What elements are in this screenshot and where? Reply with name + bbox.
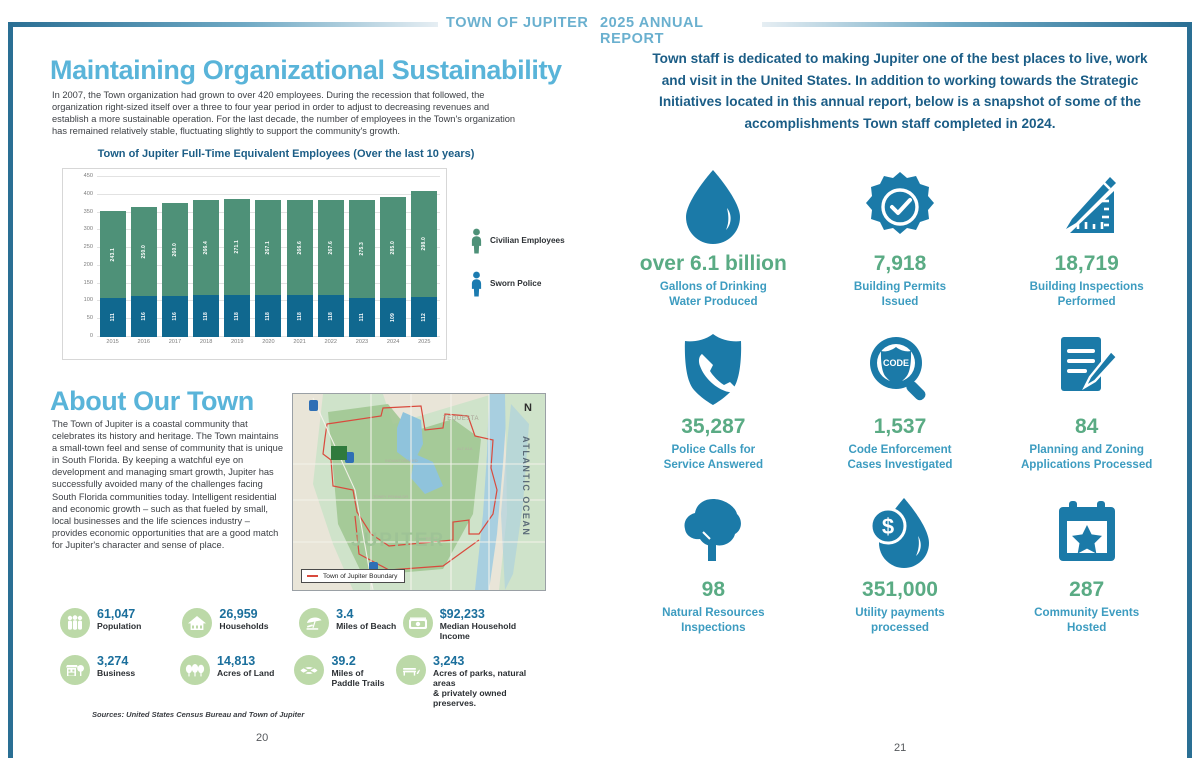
bar-value-label: 118 xyxy=(328,312,334,321)
badge-check-icon xyxy=(811,168,990,246)
page-title-sustainability: Maintaining Organizational Sustainabilit… xyxy=(50,55,562,86)
map-tequesta-label: TEQUESTA xyxy=(443,416,479,422)
quick-stat-item: 3.4Miles of Beach xyxy=(299,608,403,641)
chart-title: Town of Jupiter Full-Time Equivalent Emp… xyxy=(52,148,520,160)
bar-value-label: 111 xyxy=(110,313,116,321)
svg-text:$: $ xyxy=(882,514,894,539)
stat-number: 35,287 xyxy=(624,415,803,439)
intro-paragraph: Town staff is dedicated to making Jupite… xyxy=(650,48,1150,134)
code-magnifier-icon: CODE xyxy=(811,331,990,409)
quick-stat-label: Median Household Income xyxy=(440,621,540,641)
bar-value-label: 116 xyxy=(172,312,178,321)
chart-y-tick: 400 xyxy=(84,191,93,197)
bar-segment-civilian: 250.0 xyxy=(131,207,157,296)
header-label-right: 2025 ANNUAL REPORT xyxy=(600,15,754,47)
bar-value-label: 266.6 xyxy=(297,241,303,255)
bar-value-label: 112 xyxy=(421,313,427,322)
chart-bar-column: 266.6118 xyxy=(287,177,313,337)
kayak-icon xyxy=(294,655,324,685)
bar-segment-civilian: 266.4 xyxy=(193,200,219,295)
stat-number: 18,719 xyxy=(997,252,1176,276)
legend-label-civilian: Civilian Employees xyxy=(490,236,565,246)
quick-stat-label: Acres of parks, natural areas & privatel… xyxy=(433,668,540,708)
quick-stat-item: $92,233Median Household Income xyxy=(403,608,540,641)
bar-value-label: 118 xyxy=(265,312,271,321)
bar-segment-sworn: 118 xyxy=(224,295,250,337)
accomplishment-stat: 287Community Events Hosted xyxy=(993,494,1180,635)
legend-item-sworn: Sworn Police xyxy=(470,271,565,297)
legend-sworn-line: Sworn Police xyxy=(490,279,541,288)
accomplishment-stat: 98Natural Resources Inspections xyxy=(620,494,807,635)
stat-label: Utility payments processed xyxy=(811,605,990,635)
stat-label: Gallons of Drinking Water Produced xyxy=(624,279,803,309)
bar-segment-civilian: 260.0 xyxy=(162,203,188,295)
quick-stat-label: Acres of Land xyxy=(217,668,274,678)
legend-civilian-line: Civilian Employees xyxy=(490,236,565,245)
bar-value-label: 266.4 xyxy=(203,241,209,255)
chart-x-tick: 2019 xyxy=(224,339,250,355)
quick-stat-text: 3,243Acres of parks, natural areas & pri… xyxy=(433,655,540,708)
boundary-line-swatch xyxy=(307,575,318,577)
bar-value-label: 109 xyxy=(390,313,396,322)
quick-stats-row: 61,047Population26,959Households3.4Miles… xyxy=(60,608,540,641)
chart-y-tick: 300 xyxy=(84,226,93,232)
quick-stat-item: 3,243Acres of parks, natural areas & pri… xyxy=(396,655,540,708)
chart-x-tick: 2020 xyxy=(255,339,281,355)
bar-segment-sworn: 111 xyxy=(349,298,375,337)
accomplishment-stat: 84Planning and Zoning Applications Proce… xyxy=(993,331,1180,472)
header-rule-left xyxy=(8,22,438,27)
bar-value-label: 271.1 xyxy=(234,240,240,254)
about-body-text: The Town of Jupiter is a coastal communi… xyxy=(52,418,284,551)
legend-item-civilian: Civilian Employees xyxy=(470,228,565,254)
right-page-frame-border xyxy=(1187,22,1192,758)
chart-bar-column: 298.0112 xyxy=(411,177,437,337)
bar-segment-sworn: 109 xyxy=(380,298,406,337)
header-rule-right xyxy=(762,22,1192,27)
chart-y-tick: 200 xyxy=(84,262,93,268)
quick-stat-item: 26,959Households xyxy=(182,608,299,641)
bar-segment-sworn: 118 xyxy=(318,295,344,337)
map-graphic: INDIANTOWN RD TONEY PENNA DR CENTER ST A… xyxy=(293,394,545,590)
park-bench-icon xyxy=(396,655,426,685)
chart-bar-column: 250.0116 xyxy=(131,177,157,337)
map-legend-label: Town of Jupiter Boundary xyxy=(323,573,397,580)
document-pencil-icon xyxy=(997,331,1176,409)
quick-stat-text: 39.2Miles of Paddle Trails xyxy=(331,655,384,688)
quick-stat-number: 39.2 xyxy=(331,655,384,668)
quick-stat-label: Population xyxy=(97,621,141,631)
map-watermark: JUPITER xyxy=(351,530,445,552)
chart-bar-column: 267.1118 xyxy=(255,177,281,337)
chart-y-tick: 100 xyxy=(84,297,93,303)
sustainability-body-text: In 2007, the Town organization had grown… xyxy=(52,89,527,137)
bar-segment-civilian: 285.0 xyxy=(380,197,406,298)
water-drop-icon xyxy=(624,168,803,246)
bar-value-label: 118 xyxy=(203,312,209,321)
accomplishment-stat: 35,287Police Calls for Service Answered xyxy=(620,331,807,472)
chart-legend: Civilian Employees Sworn Police xyxy=(470,228,565,314)
bar-segment-sworn: 118 xyxy=(287,295,313,337)
quick-stat-number: 26,959 xyxy=(219,608,268,621)
page-title-about: About Our Town xyxy=(50,386,254,417)
chart-x-tick: 2025 xyxy=(411,339,437,355)
accomplishment-stat: 7,918Building Permits Issued xyxy=(807,168,994,309)
accomplishment-stat: 18,719Building Inspections Performed xyxy=(993,168,1180,309)
calendar-star-icon xyxy=(997,494,1176,572)
bar-segment-sworn: 112 xyxy=(411,297,437,337)
storefront-icon xyxy=(60,655,90,685)
legend-label-sworn: Sworn Police xyxy=(490,279,541,289)
tree-icon xyxy=(624,494,803,572)
stat-label: Planning and Zoning Applications Process… xyxy=(997,442,1176,472)
quick-stat-text: 26,959Households xyxy=(219,608,268,631)
map-ocean-label: ATLANTIC OCEAN xyxy=(521,436,531,536)
quick-stat-item: 14,813Acres of Land xyxy=(180,655,294,708)
trees-icon xyxy=(180,655,210,685)
bar-value-label: 250.0 xyxy=(141,245,147,259)
report-spread: TOWN OF JUPITER Maintaining Organization… xyxy=(0,0,1200,776)
chart-bars: 243.1111250.0116260.0116266.4118271.1118… xyxy=(97,177,440,337)
chart-bar-column: 267.6118 xyxy=(318,177,344,337)
stat-number: over 6.1 billion xyxy=(624,252,803,276)
stat-label: Building Permits Issued xyxy=(811,279,990,309)
chart-y-tick: 350 xyxy=(84,209,93,215)
ruler-pencil-icon xyxy=(997,168,1176,246)
accomplishments-grid: over 6.1 billionGallons of Drinking Wate… xyxy=(620,168,1180,635)
stat-number: 351,000 xyxy=(811,578,990,602)
sources-note: Sources: United States Census Bureau and… xyxy=(92,710,304,719)
quick-stat-number: 3,243 xyxy=(433,655,540,668)
chart-x-tick: 2023 xyxy=(349,339,375,355)
svg-text:TONEY PENNA DR: TONEY PENNA DR xyxy=(373,494,408,499)
person-icon xyxy=(470,228,483,254)
bar-segment-sworn: 118 xyxy=(255,295,281,337)
chart-bar-column: 266.4118 xyxy=(193,177,219,337)
svg-text:ALT A1A: ALT A1A xyxy=(457,446,473,451)
stat-label: Code Enforcement Cases Investigated xyxy=(811,442,990,472)
bar-segment-civilian: 267.1 xyxy=(255,200,281,295)
quick-stat-label: Miles of Paddle Trails xyxy=(331,668,384,688)
bar-segment-civilian: 267.6 xyxy=(318,200,344,295)
bar-segment-sworn: 118 xyxy=(193,295,219,337)
people-icon xyxy=(60,608,90,638)
accomplishment-stat: $351,000Utility payments processed xyxy=(807,494,994,635)
accomplishment-stat: over 6.1 billionGallons of Drinking Wate… xyxy=(620,168,807,309)
chart-x-tick: 2016 xyxy=(131,339,157,355)
quick-stat-item: 3,274Business xyxy=(60,655,180,708)
header-label-left: TOWN OF JUPITER xyxy=(446,15,588,31)
stat-label: Community Events Hosted xyxy=(997,605,1176,635)
chart-x-tick: 2018 xyxy=(193,339,219,355)
bar-value-label: 298.0 xyxy=(421,237,427,251)
quick-stat-label: Miles of Beach xyxy=(336,621,396,631)
chart-x-axis: 2015201620172018201920202021202220232024… xyxy=(97,339,440,355)
bar-segment-sworn: 116 xyxy=(131,296,157,337)
stat-label: Building Inspections Performed xyxy=(997,279,1176,309)
chart-y-tick: 250 xyxy=(84,244,93,250)
bar-value-label: 260.0 xyxy=(172,243,178,257)
quick-stat-text: $92,233Median Household Income xyxy=(440,608,540,641)
map-legend: Town of Jupiter Boundary xyxy=(301,569,405,583)
quick-stat-item: 61,047Population xyxy=(60,608,182,641)
chart-bar-column: 260.0116 xyxy=(162,177,188,337)
bar-segment-civilian: 298.0 xyxy=(411,191,437,297)
chart-x-tick: 2021 xyxy=(287,339,313,355)
chart-bar-column: 285.0109 xyxy=(380,177,406,337)
person-icon xyxy=(470,271,483,297)
chart-x-tick: 2024 xyxy=(380,339,406,355)
bar-value-label: 243.1 xyxy=(110,248,116,262)
chart-bar-column: 243.1111 xyxy=(100,177,126,337)
quick-stat-number: 14,813 xyxy=(217,655,274,668)
quick-stat-label: Households xyxy=(219,621,268,631)
left-page-frame-border xyxy=(8,22,13,758)
bar-segment-civilian: 266.6 xyxy=(287,200,313,295)
fte-employees-chart: 050100150200250300350400450 243.1111250.… xyxy=(62,168,447,360)
quick-stat-text: 61,047Population xyxy=(97,608,141,631)
bar-value-label: 285.0 xyxy=(390,241,396,255)
quick-stat-text: 3,274Business xyxy=(97,655,135,678)
chart-plot-area: 050100150200250300350400450 243.1111250.… xyxy=(97,177,440,337)
quick-stat-number: $92,233 xyxy=(440,608,540,621)
stat-number: 1,537 xyxy=(811,415,990,439)
money-icon xyxy=(403,608,433,638)
chart-x-tick: 2022 xyxy=(318,339,344,355)
page-number-right: 21 xyxy=(894,742,906,754)
left-page: TOWN OF JUPITER Maintaining Organization… xyxy=(0,0,600,776)
police-shield-phone-icon xyxy=(624,331,803,409)
bar-segment-sworn: 116 xyxy=(162,296,188,337)
bar-value-label: 118 xyxy=(297,312,303,321)
bar-segment-civilian: 275.3 xyxy=(349,200,375,298)
stat-number: 7,918 xyxy=(811,252,990,276)
stat-label: Police Calls for Service Answered xyxy=(624,442,803,472)
chart-bar-column: 271.1118 xyxy=(224,177,250,337)
quick-stats-row: 3,274Business14,813Acres of Land39.2Mile… xyxy=(60,655,540,708)
bar-value-label: 267.6 xyxy=(328,241,334,255)
chart-y-tick: 0 xyxy=(90,333,93,339)
bar-value-label: 275.3 xyxy=(359,242,365,256)
stat-number: 98 xyxy=(624,578,803,602)
stat-number: 84 xyxy=(997,415,1176,439)
quick-stat-number: 3,274 xyxy=(97,655,135,668)
quick-stat-label: Business xyxy=(97,668,135,678)
chart-x-tick: 2017 xyxy=(162,339,188,355)
beach-umbrella-icon xyxy=(299,608,329,638)
accomplishment-stat: CODE1,537Code Enforcement Cases Investig… xyxy=(807,331,994,472)
house-icon xyxy=(182,608,212,638)
north-arrow-icon: N xyxy=(524,402,532,414)
bar-value-label: 111 xyxy=(359,313,365,321)
bar-segment-civilian: 243.1 xyxy=(100,211,126,297)
bar-value-label: 118 xyxy=(234,312,240,321)
quick-stat-text: 14,813Acres of Land xyxy=(217,655,274,678)
chart-y-tick: 50 xyxy=(87,315,93,321)
bar-value-label: 116 xyxy=(141,312,147,321)
dollar-drop-icon: $ xyxy=(811,494,990,572)
stat-number: 287 xyxy=(997,578,1176,602)
town-boundary-map[interactable]: INDIANTOWN RD TONEY PENNA DR CENTER ST A… xyxy=(292,393,546,591)
chart-y-tick: 450 xyxy=(84,173,93,179)
chart-bar-column: 275.3111 xyxy=(349,177,375,337)
chart-x-tick: 2015 xyxy=(100,339,126,355)
svg-text:INDIANTOWN RD: INDIANTOWN RD xyxy=(385,458,418,463)
quick-stat-text: 3.4Miles of Beach xyxy=(336,608,396,631)
bar-segment-civilian: 271.1 xyxy=(224,199,250,295)
quick-stat-item: 39.2Miles of Paddle Trails xyxy=(294,655,396,708)
quick-stats-grid: 61,047Population26,959Households3.4Miles… xyxy=(60,608,540,722)
quick-stat-number: 3.4 xyxy=(336,608,396,621)
quick-stat-number: 61,047 xyxy=(97,608,141,621)
bar-segment-sworn: 111 xyxy=(100,298,126,337)
svg-text:CODE: CODE xyxy=(883,358,909,368)
chart-y-tick: 150 xyxy=(84,280,93,286)
stat-label: Natural Resources Inspections xyxy=(624,605,803,635)
page-number-left: 20 xyxy=(256,732,268,744)
bar-value-label: 267.1 xyxy=(265,241,271,255)
